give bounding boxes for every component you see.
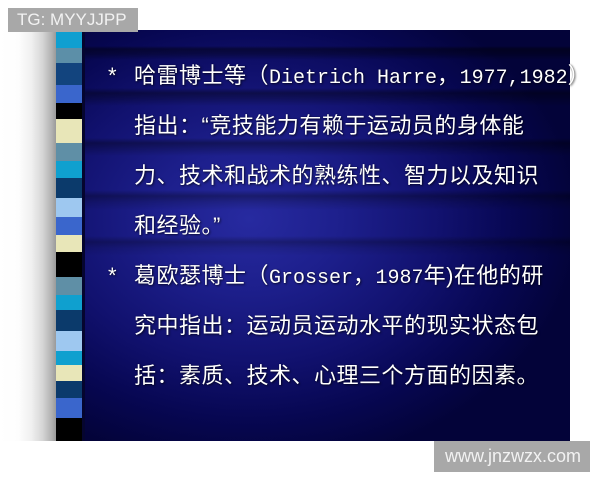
presentation-slide: *哈雷博士等（Dietrich Harre，1977,1982）指出：“竞技能力… xyxy=(0,30,600,441)
watermark-top-left: TG: MYYJJPP xyxy=(8,8,138,32)
slide-text-line: 和经验。” xyxy=(108,208,221,240)
slide-text-line: 力、技术和战术的熟练性、智力以及知识 xyxy=(108,158,539,190)
latin-text-run: Dietrich Harre xyxy=(269,67,437,90)
slide-text-line: 括：素质、技术、心理三个方面的因素。 xyxy=(108,358,539,390)
latin-text-run: 1987 xyxy=(376,267,424,290)
slide-text-line: *葛欧瑟博士（Grosser，1987年)在他的研 xyxy=(108,258,544,290)
bullet-marker: * xyxy=(108,63,134,89)
bullet-marker: * xyxy=(108,263,134,289)
watermark-bottom-right: www.jnzwzx.com xyxy=(434,441,590,472)
latin-text-run: Grosser xyxy=(269,267,353,290)
slide-text-line: 指出：“竞技能力有赖于运动员的身体能 xyxy=(108,108,524,140)
latin-text-run: 1977,1982 xyxy=(460,67,568,90)
slide-text-line: 究中指出：运动员运动水平的现实状态包 xyxy=(108,308,539,340)
screenshot-root: *哈雷博士等（Dietrich Harre，1977,1982）指出：“竞技能力… xyxy=(0,0,600,480)
slide-text-body: *哈雷博士等（Dietrich Harre，1977,1982）指出：“竞技能力… xyxy=(0,30,600,441)
slide-text-line: *哈雷博士等（Dietrich Harre，1977,1982） xyxy=(108,58,590,90)
